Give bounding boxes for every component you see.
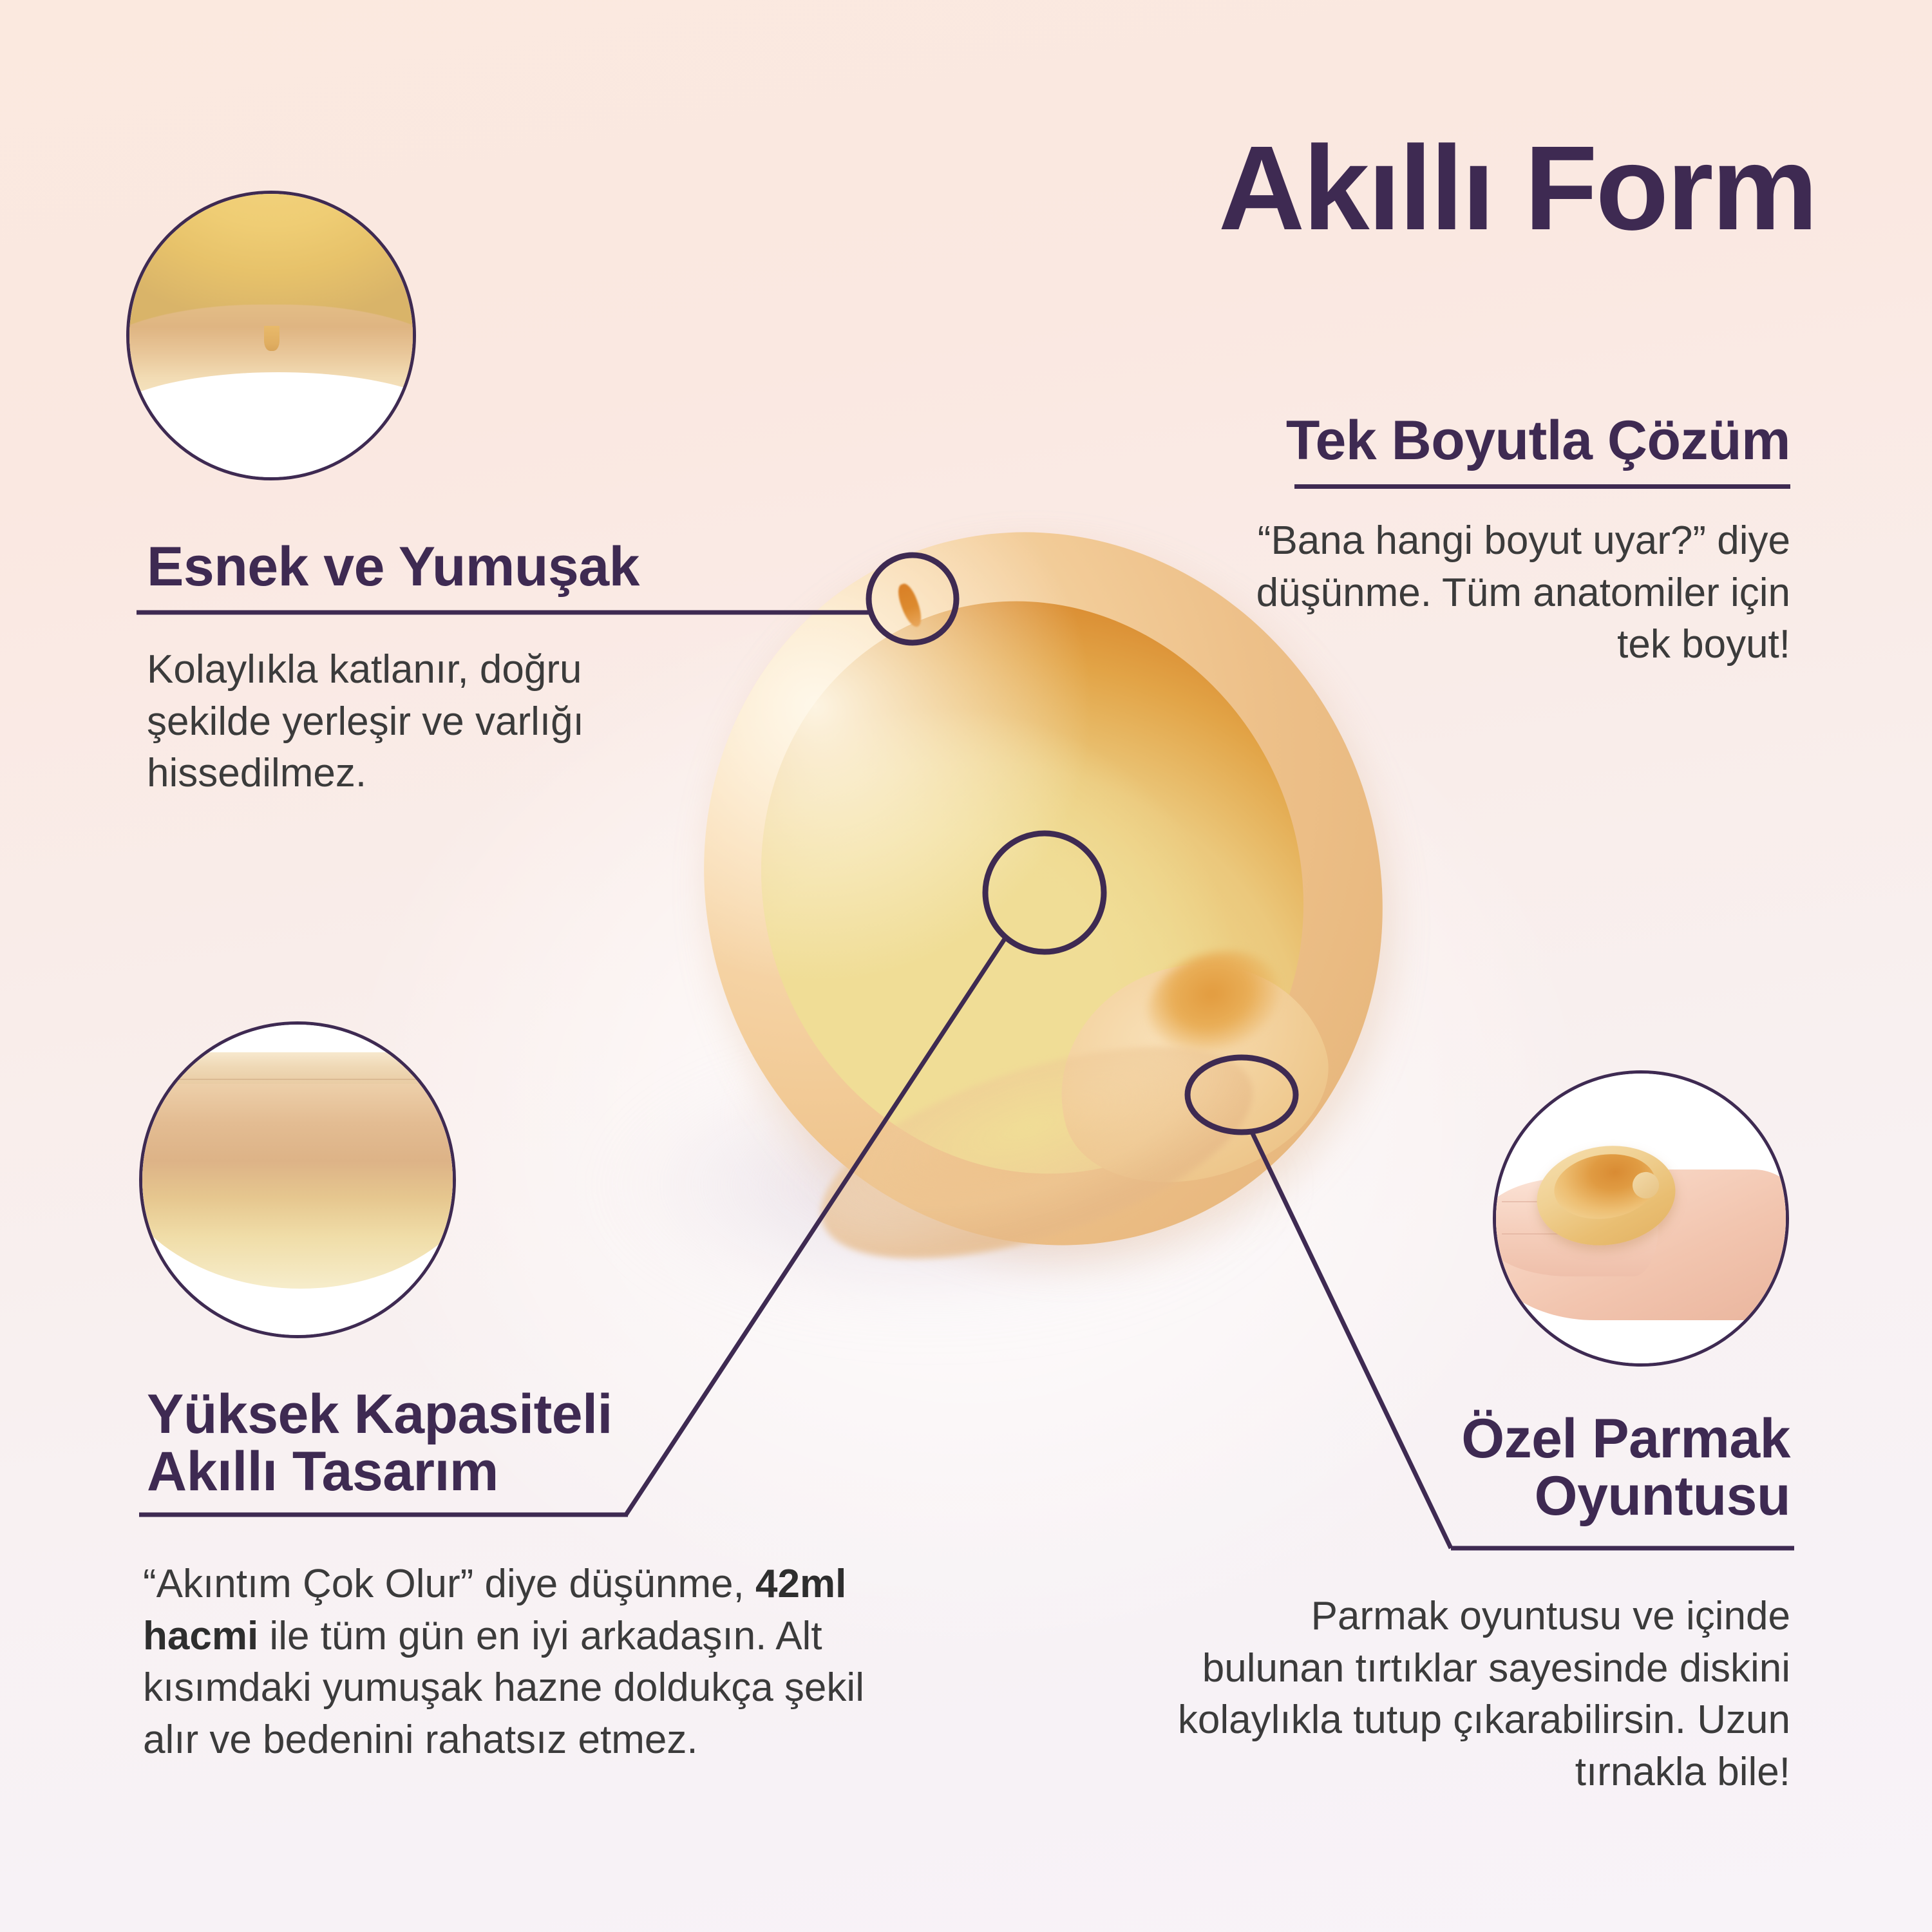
inset-bl-content: [142, 1025, 453, 1335]
feature-title-finger-groove: Özel Parmak Oyuntusu: [1249, 1410, 1790, 1526]
feature-body-finger-groove: Parmak oyuntusu ve içinde bulunan tırtık…: [1166, 1591, 1790, 1798]
feature-title-line-1: Özel Parmak: [1249, 1410, 1790, 1468]
inset-br-content: [1496, 1074, 1786, 1363]
infographic-canvas: Akıllı Form: [0, 0, 1932, 1932]
inset-tl-content: [129, 194, 413, 477]
feature-title-line-2: Akıllı Tasarım: [147, 1443, 726, 1501]
reservoir-lip-crease: [139, 1079, 456, 1080]
capacity-body-prefix: “Akıntım Çok Olur” diye düşünme,: [143, 1562, 755, 1606]
inset-photo-rim-notch: [126, 191, 416, 480]
feature-title-one-size: Tek Boyutla Çözüm: [1224, 412, 1790, 469]
feature-body-one-size: “Bana hangi boyut uyar?” diye düşünme. T…: [1256, 515, 1790, 671]
inset-white-backdrop: [126, 372, 416, 480]
feature-body-flexible-soft: Kolaylıkla katlanır, doğru şekilde yerle…: [147, 644, 636, 800]
feature-title-high-capacity: Yüksek Kapasiteli Akıllı Tasarım: [147, 1386, 726, 1501]
reservoir-body: [139, 1052, 456, 1288]
page-title: Akıllı Form: [1172, 129, 1816, 249]
inset-photo-hand-holding-disc: [1493, 1070, 1789, 1367]
inset-photo-soft-reservoir: [139, 1021, 456, 1338]
feature-body-high-capacity: “Akıntım Çok Olur” diye düşünme, 42ml ha…: [143, 1558, 909, 1766]
feature-title-line-1: Yüksek Kapasiteli: [147, 1386, 726, 1443]
feature-title-line-2: Oyuntusu: [1249, 1468, 1790, 1525]
rule-top-right: [1294, 484, 1790, 489]
rim-notch-detail: [264, 326, 279, 352]
feature-title-flexible-soft: Esnek ve Yumuşak: [147, 538, 726, 596]
